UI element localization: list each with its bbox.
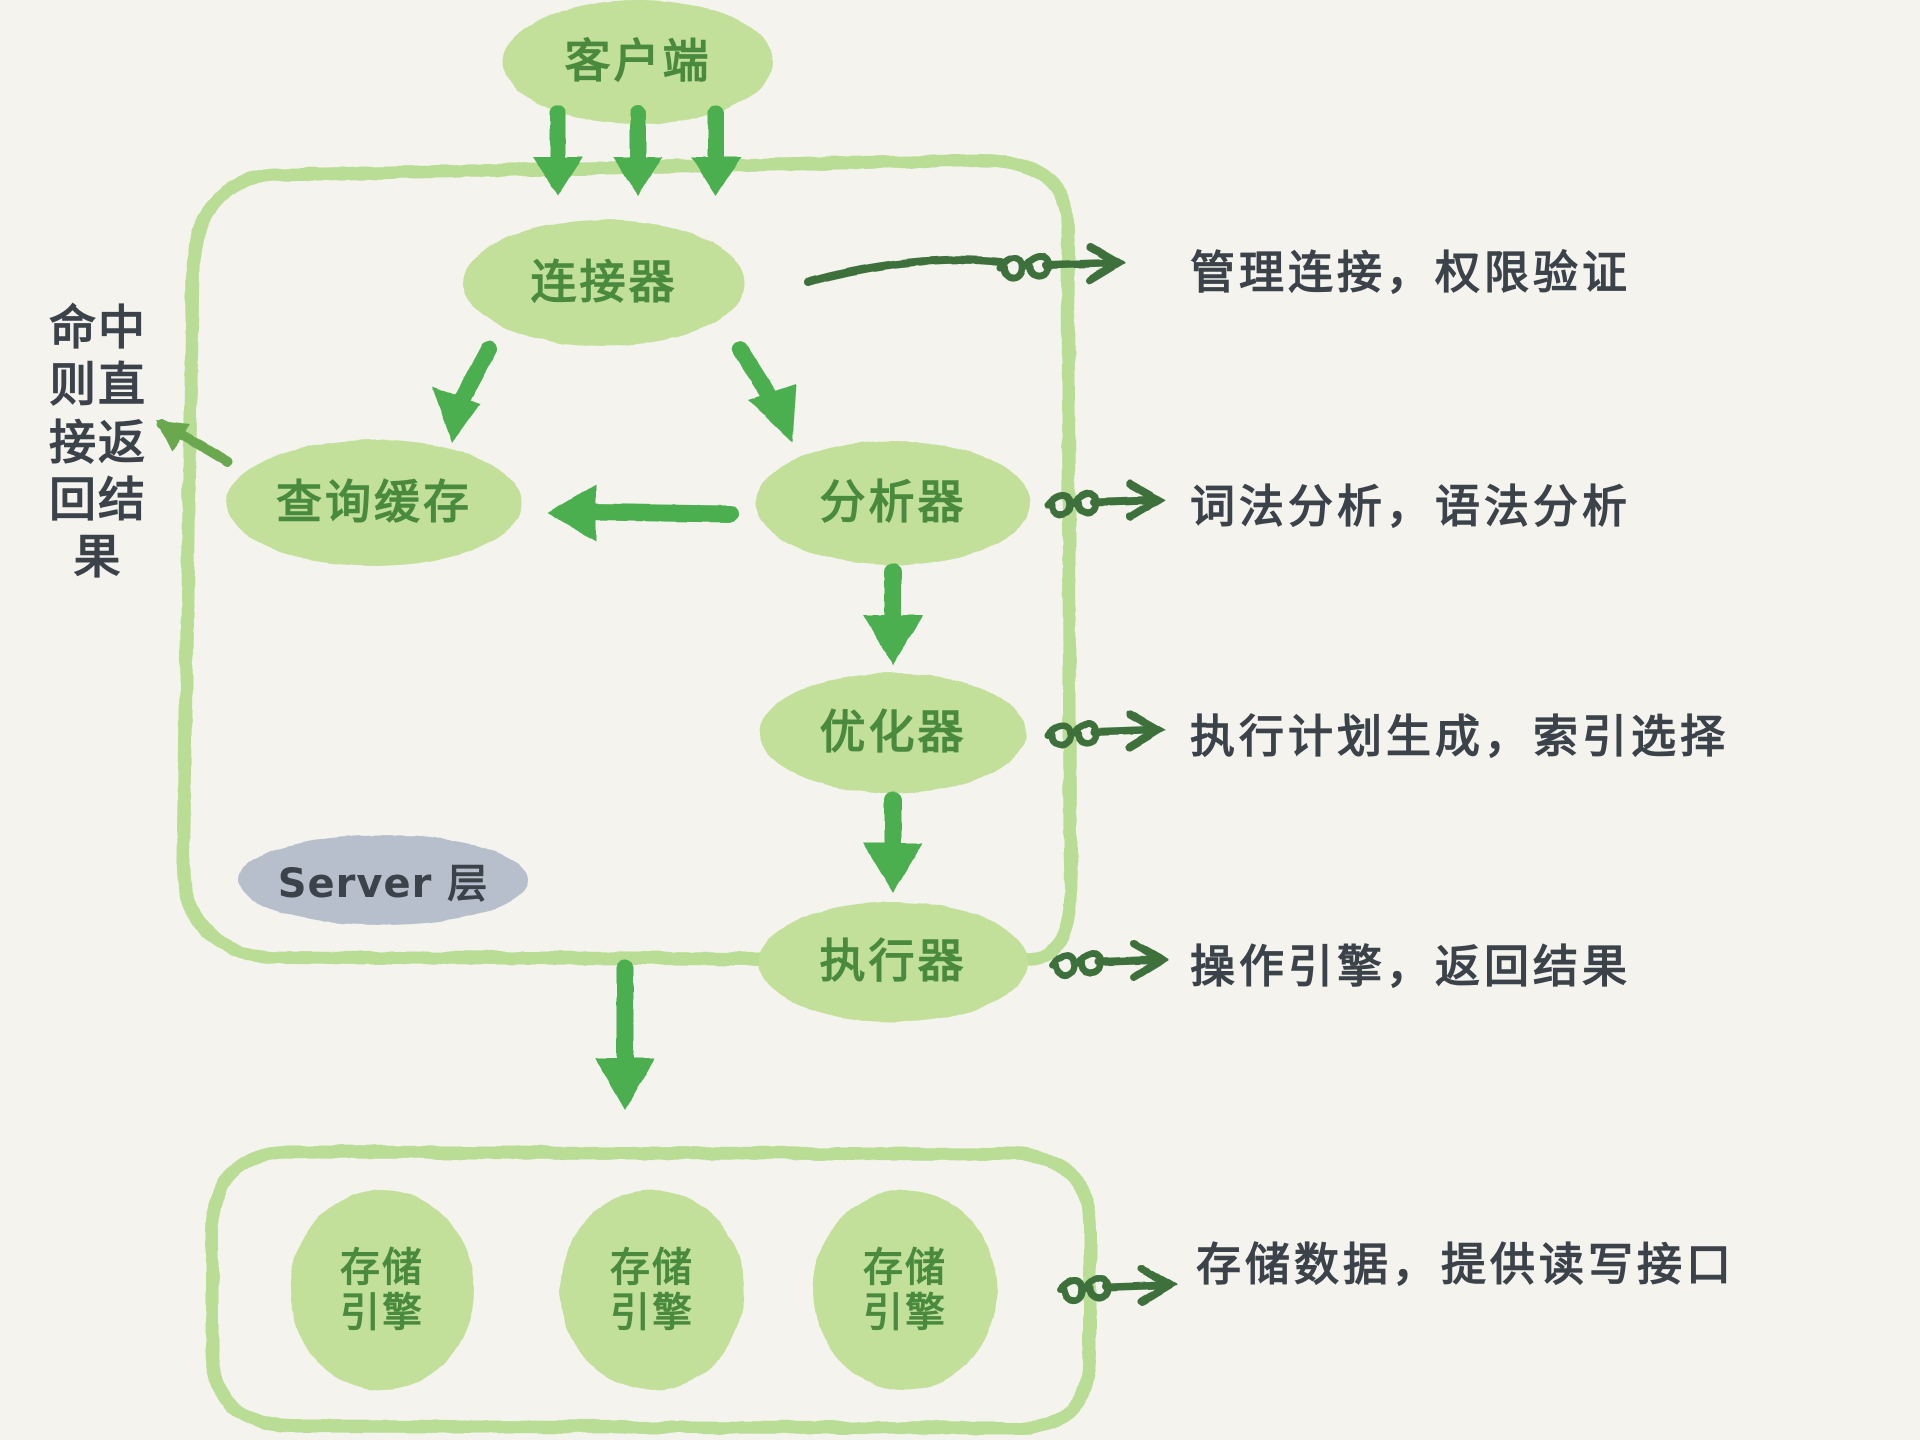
annot-line-executor <box>1052 944 1162 977</box>
node-blob-optimizer <box>760 673 1026 793</box>
side-note-cache-hit: 命中则直接返回结果 <box>38 300 158 587</box>
node-blob-query-cache <box>226 440 522 566</box>
arrow-parser-to-query-cache <box>547 484 730 542</box>
annotation-connector: 管理连接，权限验证 <box>1190 236 1631 301</box>
arrow-parser-to-optimizer <box>863 572 923 665</box>
annot-line-storage <box>1060 1269 1170 1302</box>
arrow-connector-to-query-cache <box>432 349 489 443</box>
arrow-optimizer-to-executor <box>863 800 923 893</box>
annotation-optimizer: 执行计划生成，索引选择 <box>1190 700 1729 765</box>
node-blob-storage-engine <box>813 1190 997 1390</box>
diagram-canvas: 客户端 连接器 查询缓存 分析器 优化器 执行器 Server 层 存储 引擎 … <box>0 0 1920 1440</box>
arrow-connector-to-parser <box>740 349 796 442</box>
node-blob-parser <box>756 441 1030 565</box>
annotation-parser: 词法分析，语法分析 <box>1190 470 1631 535</box>
annotation-storage: 存储数据，提供读写接口 <box>1196 1228 1735 1293</box>
node-blob-connector <box>463 220 745 346</box>
node-blob-storage-engine <box>560 1190 744 1390</box>
arrow-client-to-server <box>533 113 741 196</box>
node-shapes <box>226 0 1030 1390</box>
server-layer-label: Server 层 <box>253 848 513 912</box>
annotation-executor: 操作引擎，返回结果 <box>1190 930 1631 995</box>
node-blob-storage-engine <box>290 1190 474 1390</box>
arrow-server-to-storage <box>595 968 655 1110</box>
node-blob-executor <box>758 902 1028 1022</box>
